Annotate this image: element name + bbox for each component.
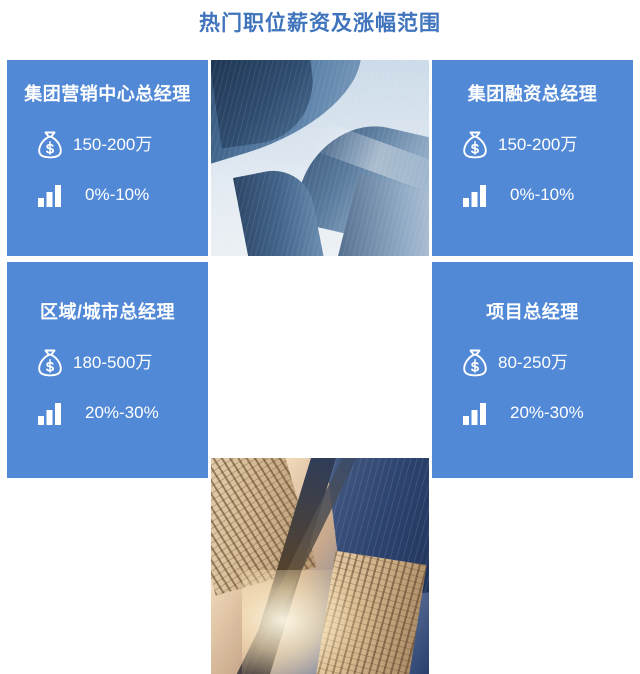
growth-row: 20%-30% xyxy=(432,396,633,430)
bar-chart-icon xyxy=(33,178,67,212)
job-title: 区域/城市总经理 xyxy=(40,300,175,324)
money-bag-icon: S xyxy=(33,346,67,380)
growth-value: 20%-30% xyxy=(85,403,159,423)
sunset-skyscrapers-low-angle-photo xyxy=(211,458,429,674)
job-panel-top-right[interactable]: 集团融资总经理 S 150-200万 xyxy=(432,60,633,256)
growth-value: 0%-10% xyxy=(85,185,149,205)
bar-chart-icon xyxy=(458,396,492,430)
money-bag-icon: S xyxy=(458,128,492,162)
salary-value: 80-250万 xyxy=(498,353,568,373)
growth-value: 0%-10% xyxy=(510,185,574,205)
job-title: 集团营销中心总经理 xyxy=(24,82,191,106)
salary-value: 180-500万 xyxy=(73,353,152,373)
growth-row: 0%-10% xyxy=(7,178,208,212)
money-bag-icon: S xyxy=(33,128,67,162)
salary-row: S 180-500万 xyxy=(7,346,208,380)
bar-chart-icon xyxy=(33,396,67,430)
salary-value: 150-200万 xyxy=(73,135,152,155)
job-panel-bottom-right[interactable]: 项目总经理 S 80-250万 xyxy=(432,262,633,478)
job-panel-bottom-left[interactable]: 区域/城市总经理 S 180-500万 xyxy=(7,262,208,478)
growth-row: 20%-30% xyxy=(7,396,208,430)
salary-row: S 150-200万 xyxy=(7,128,208,162)
panel-grid: 集团营销中心总经理 S 150-200万 xyxy=(7,60,633,478)
growth-row: 0%-10% xyxy=(432,178,633,212)
infographic-page: 热门职位薪资及涨幅范围 集团营销中心总经理 S 150-200万 xyxy=(0,0,640,485)
glass-skyscrapers-low-angle-photo xyxy=(211,60,429,256)
job-panel-top-left[interactable]: 集团营销中心总经理 S 150-200万 xyxy=(7,60,208,256)
salary-value: 150-200万 xyxy=(498,135,577,155)
job-title: 集团融资总经理 xyxy=(468,82,598,106)
growth-value: 20%-30% xyxy=(510,403,584,423)
job-title: 项目总经理 xyxy=(486,300,579,324)
salary-row: S 150-200万 xyxy=(432,128,633,162)
bar-chart-icon xyxy=(458,178,492,212)
salary-row: S 80-250万 xyxy=(432,346,633,380)
money-bag-icon: S xyxy=(458,346,492,380)
page-title: 热门职位薪资及涨幅范围 xyxy=(0,10,640,38)
